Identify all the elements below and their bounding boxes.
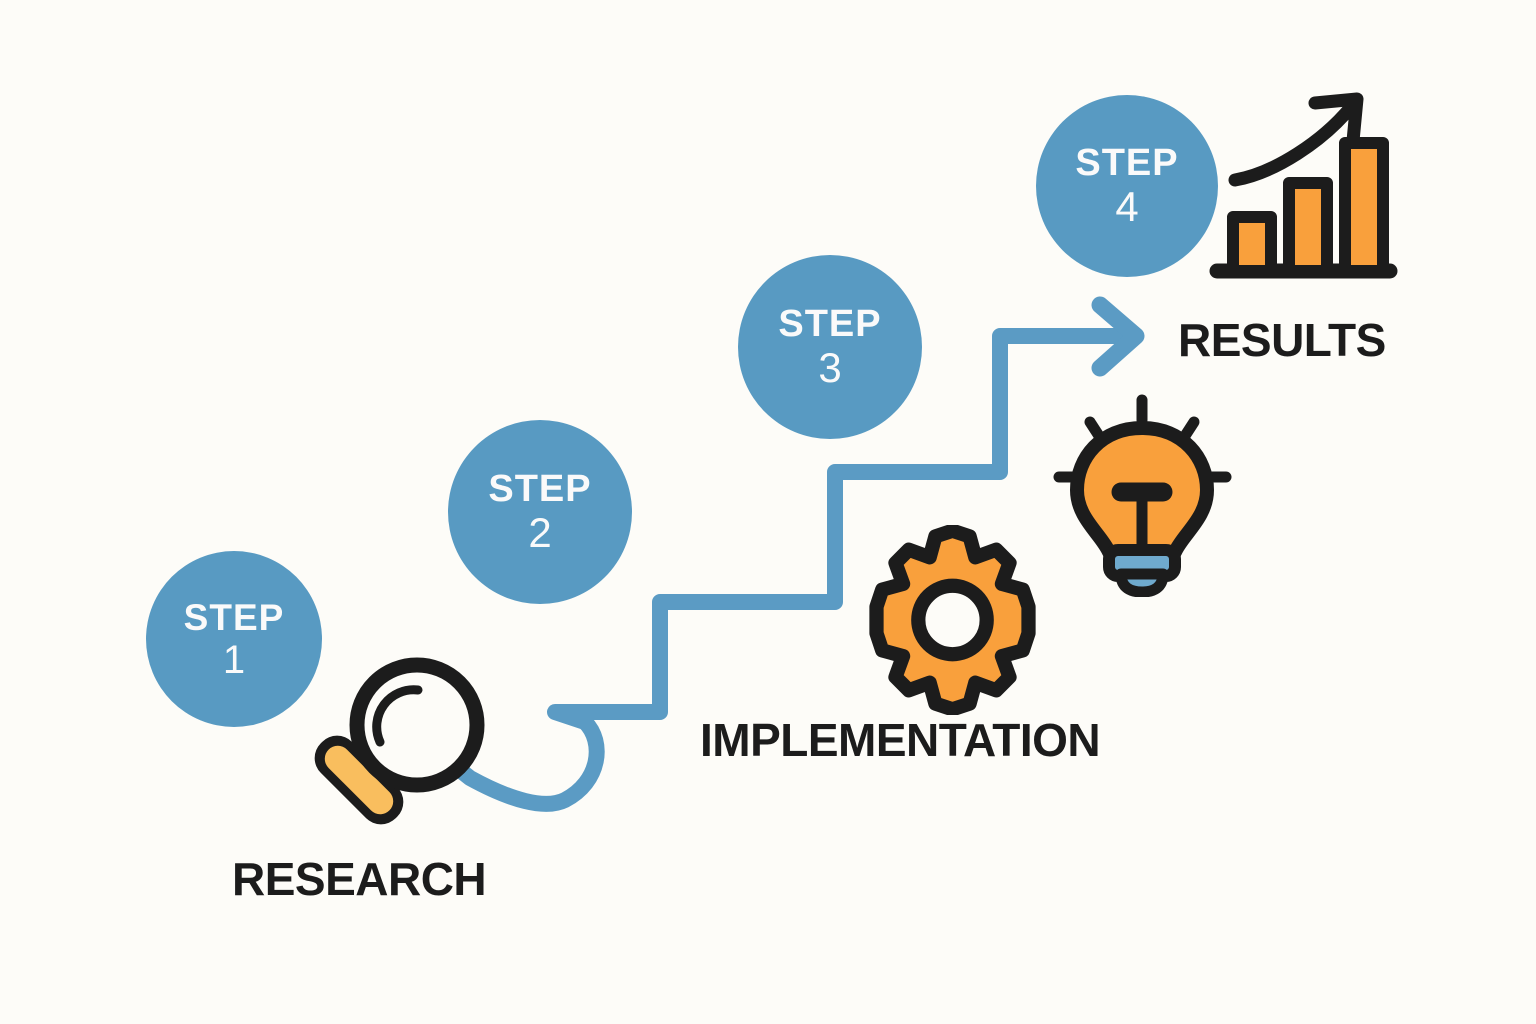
gear-icon xyxy=(855,525,1050,715)
magnifying-glass-icon xyxy=(300,650,510,840)
lightbulb-icon xyxy=(1045,392,1240,597)
infographic-canvas: STEP 1 STEP 2 STEP 3 STEP 4 xyxy=(0,0,1536,1024)
step-4-word: STEP xyxy=(1075,144,1178,182)
step-circle-1[interactable]: STEP 1 xyxy=(146,551,322,727)
step-3-number: 3 xyxy=(818,347,841,389)
step-2-number: 2 xyxy=(528,512,551,554)
gear-body xyxy=(877,531,1029,710)
step-3-word: STEP xyxy=(778,305,881,343)
chart-bar-2 xyxy=(1289,183,1327,271)
gear-hub xyxy=(918,586,986,654)
chart-bar-1 xyxy=(1233,217,1271,271)
step-1-word: STEP xyxy=(184,599,285,636)
bar-chart-growth-icon xyxy=(1205,85,1440,310)
stage-label-results: RESULTS xyxy=(1178,313,1386,367)
lightbulb-cap xyxy=(1121,574,1163,592)
stage-label-implementation: IMPLEMENTATION xyxy=(700,713,1100,767)
stage-label-research: RESEARCH xyxy=(232,852,486,906)
chart-bar-3 xyxy=(1345,143,1383,271)
step-2-word: STEP xyxy=(488,470,591,508)
growth-arrow-icon xyxy=(1235,99,1357,180)
step-1-number: 1 xyxy=(223,640,245,680)
step-circle-4[interactable]: STEP 4 xyxy=(1036,95,1218,277)
step-circle-3[interactable]: STEP 3 xyxy=(738,255,922,439)
step-4-number: 4 xyxy=(1115,186,1138,228)
step-circle-2[interactable]: STEP 2 xyxy=(448,420,632,604)
